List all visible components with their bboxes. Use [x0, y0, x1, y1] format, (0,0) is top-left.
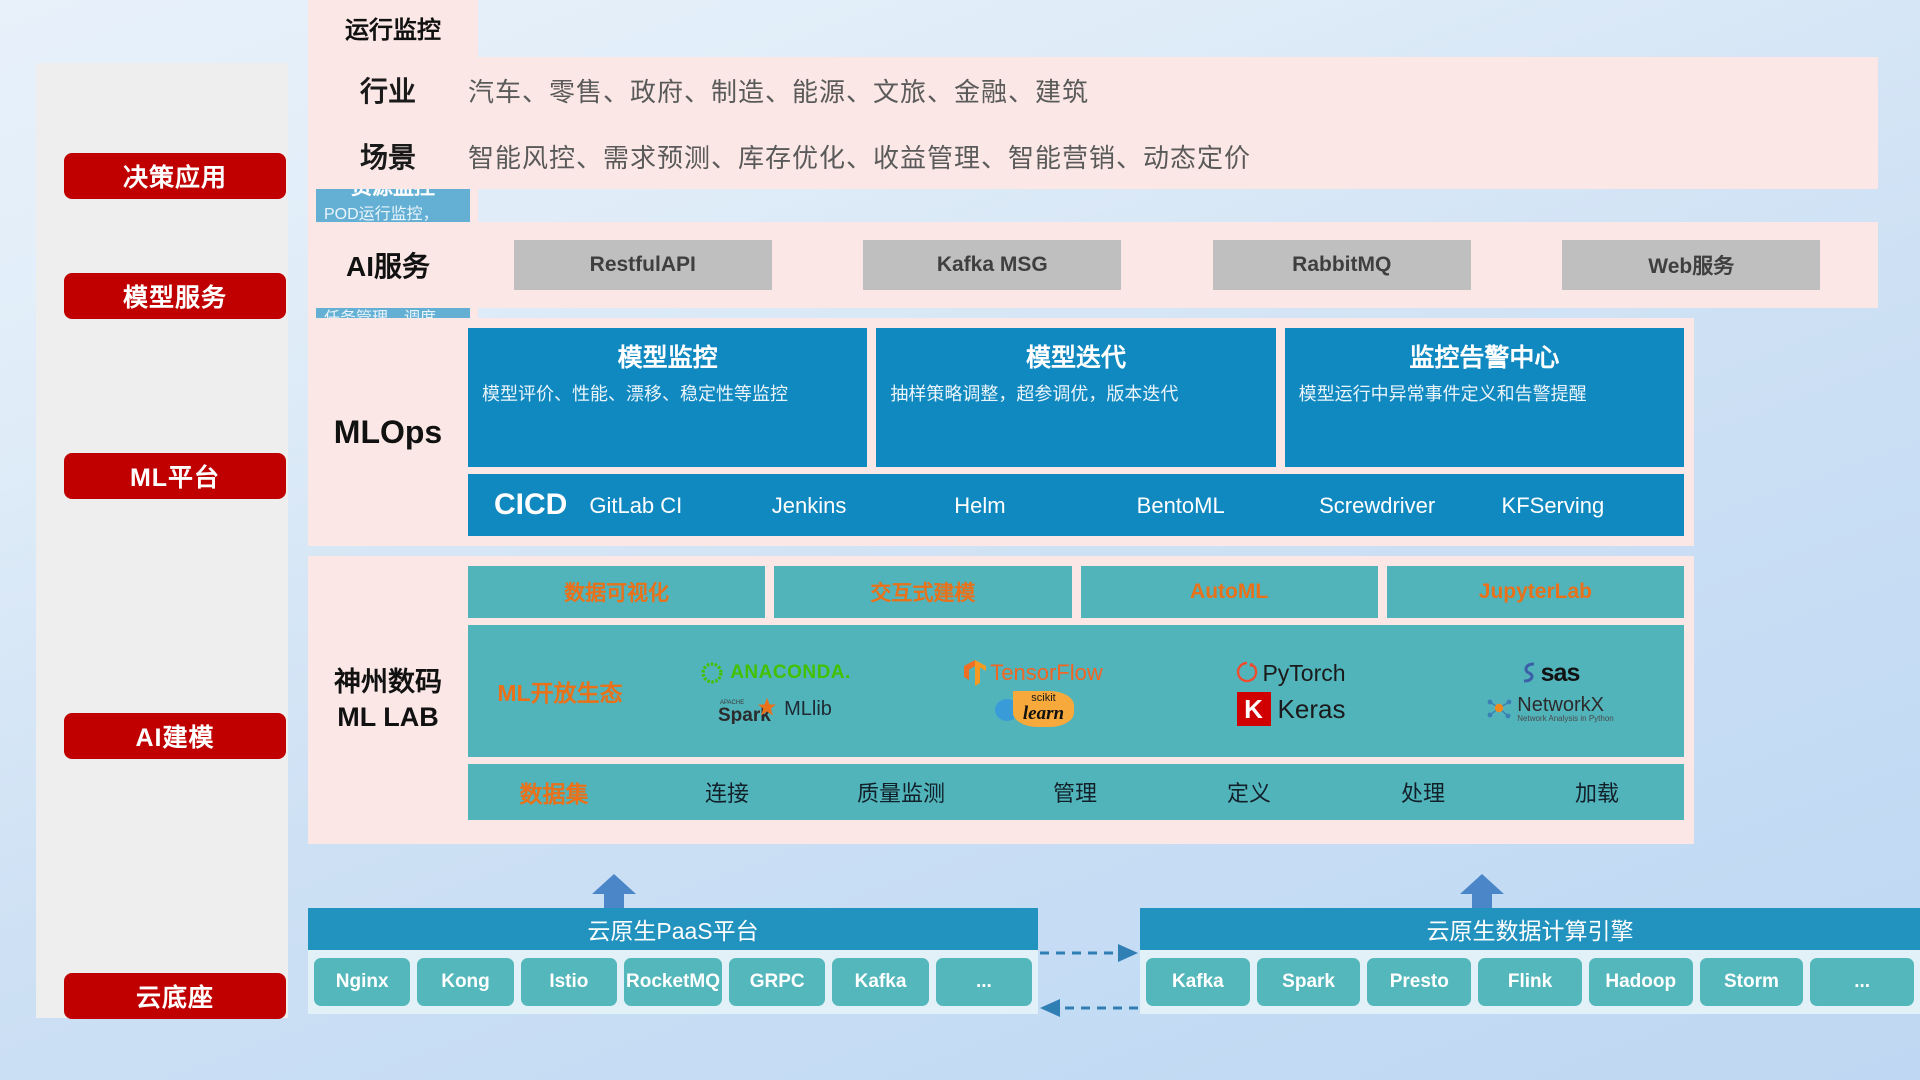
rail-item-ai-modeling[interactable]: AI建模: [64, 713, 286, 759]
tool-chip-automl[interactable]: AutoML: [1081, 566, 1378, 618]
networkx-wordmark: NetworkX: [1517, 695, 1614, 715]
paas-chip-grpc[interactable]: GRPC: [729, 958, 825, 1006]
dataset-item-define[interactable]: 定义: [1162, 776, 1336, 808]
bidirectional-link-arrows: [1038, 908, 1140, 1038]
networkx-mark-icon: [1484, 694, 1514, 724]
ml-lab-band: 神州数码 ML LAB 数据可视化 交互式建模 AutoML JupyterLa…: [308, 556, 1694, 844]
ml-lab-label: 神州数码 ML LAB: [308, 556, 468, 844]
mlops-content: 模型监控 模型评价、性能、漂移、稳定性等监控 模型迭代 抽样策略调整，超参调优，…: [468, 318, 1694, 546]
ai-service-label: AI服务: [308, 245, 468, 285]
service-chip-kafka-msg[interactable]: Kafka MSG: [863, 240, 1121, 290]
cloud-paas-title: 云原生PaaS平台: [308, 908, 1038, 950]
scikit-learn-logo: scikit learn: [992, 691, 1074, 727]
paas-chip-istio[interactable]: Istio: [521, 958, 617, 1006]
keras-wordmark: Keras: [1278, 694, 1346, 725]
ml-lab-label-line1: 神州数码: [334, 665, 442, 700]
ml-open-ecosystem-label: ML开放生态: [474, 674, 646, 708]
pytorch-logo: PyTorch: [1236, 660, 1345, 687]
cicd-item-jenkins[interactable]: Jenkins: [772, 493, 954, 518]
dataset-item-load[interactable]: 加载: [1510, 776, 1684, 808]
card-title: 模型迭代: [890, 338, 1261, 374]
cloud-paas-chip-list: Nginx Kong Istio RocketMQ GRPC Kafka ...: [308, 950, 1038, 1014]
industry-value: 汽车、零售、政府、制造、能源、文旅、金融、建筑: [468, 72, 1089, 109]
mlops-label: MLOps: [308, 318, 468, 546]
ml-tool-list: 数据可视化 交互式建模 AutoML JupyterLab: [468, 566, 1684, 618]
dataset-item-manage[interactable]: 管理: [988, 776, 1162, 808]
paas-chip-kafka[interactable]: Kafka: [832, 958, 928, 1006]
mllib-wordmark: MLlib: [784, 698, 832, 721]
service-chip-web[interactable]: Web服务: [1562, 240, 1820, 290]
scenario-label: 场景: [308, 136, 468, 176]
dataset-item-quality[interactable]: 质量监测: [814, 776, 988, 808]
decision-application-band: 行业 汽车、零售、政府、制造、能源、文旅、金融、建筑 场景 智能风控、需求预测、…: [308, 57, 1878, 189]
engine-chip-flink[interactable]: Flink: [1478, 958, 1582, 1006]
anaconda-logo: ANACONDA.: [699, 660, 851, 686]
mlops-card-model-monitoring[interactable]: 模型监控 模型评价、性能、漂移、稳定性等监控: [468, 328, 867, 467]
tool-chip-jupyterlab[interactable]: JupyterLab: [1387, 566, 1684, 618]
engine-chip-kafka[interactable]: Kafka: [1146, 958, 1250, 1006]
service-chip-rabbitmq[interactable]: RabbitMQ: [1213, 240, 1471, 290]
industry-label: 行业: [308, 70, 468, 110]
mlops-card-model-iteration[interactable]: 模型迭代 抽样策略调整，超参调优，版本迭代: [876, 328, 1275, 467]
apache-spark-mark-icon: APACHE Spark: [718, 694, 780, 724]
anaconda-wordmark: ANACONDA.: [730, 662, 851, 684]
card-title: 监控告警中心: [1299, 338, 1670, 374]
ai-service-band: AI服务 RestfulAPI Kafka MSG RabbitMQ Web服务: [308, 222, 1878, 308]
cicd-bar: CICD GitLab CI Jenkins Helm BentoML Scre…: [468, 474, 1684, 536]
cicd-item-bentoml[interactable]: BentoML: [1137, 493, 1319, 518]
dataset-item-list: 连接 质量监测 管理 定义 处理 加载: [640, 776, 1684, 808]
card-title: 模型监控: [482, 338, 853, 374]
card-desc: 模型运行中异常事件定义和告警提醒: [1299, 382, 1670, 406]
pytorch-mark-icon: [1236, 660, 1258, 686]
spark-mllib-logo: APACHE Spark MLlib: [718, 694, 832, 724]
ml-open-ecosystem-row: ML开放生态 ANACONDA.: [468, 625, 1684, 757]
mlops-card-list: 模型监控 模型评价、性能、漂移、稳定性等监控 模型迭代 抽样策略调整，超参调优，…: [468, 328, 1684, 467]
mlops-card-alert-center[interactable]: 监控告警中心 模型运行中异常事件定义和告警提醒: [1285, 328, 1684, 467]
paas-chip-kong[interactable]: Kong: [417, 958, 513, 1006]
dataset-title: 数据集: [468, 775, 640, 809]
service-chip-restfulapi[interactable]: RestfulAPI: [514, 240, 772, 290]
scenario-value: 智能风控、需求预测、库存优化、收益管理、智能营销、动态定价: [468, 138, 1251, 175]
learn-wordmark: learn: [1023, 704, 1064, 723]
cicd-item-list: GitLab CI Jenkins Helm BentoML Screwdriv…: [589, 493, 1684, 518]
rail-item-decision-app[interactable]: 决策应用: [64, 153, 286, 199]
paas-chip-more[interactable]: ...: [936, 958, 1032, 1006]
tensorflow-mark-icon: [963, 659, 987, 687]
tool-chip-data-visualization[interactable]: 数据可视化: [468, 566, 765, 618]
ai-service-chip-list: RestfulAPI Kafka MSG RabbitMQ Web服务: [468, 240, 1878, 290]
mlops-band: MLOps 模型监控 模型评价、性能、漂移、稳定性等监控 模型迭代 抽样策略调整…: [308, 318, 1694, 546]
cicd-item-gitlab-ci[interactable]: GitLab CI: [589, 493, 771, 518]
cicd-item-helm[interactable]: Helm: [954, 493, 1136, 518]
cicd-title: CICD: [468, 488, 589, 522]
paas-chip-rocketmq[interactable]: RocketMQ: [624, 958, 722, 1006]
industry-row: 行业 汽车、零售、政府、制造、能源、文旅、金融、建筑: [308, 57, 1878, 123]
card-desc: 模型评价、性能、漂移、稳定性等监控: [482, 382, 853, 406]
cloud-engine-title: 云原生数据计算引擎: [1140, 908, 1920, 950]
rail-item-model-service[interactable]: 模型服务: [64, 273, 286, 319]
paas-chip-nginx[interactable]: Nginx: [314, 958, 410, 1006]
engine-chip-storm[interactable]: Storm: [1700, 958, 1804, 1006]
ml-lab-content: 数据可视化 交互式建模 AutoML JupyterLab ML开放生态 ANA…: [468, 556, 1694, 844]
sas-logo: sas: [1519, 659, 1580, 688]
keras-mark-icon: K: [1237, 692, 1271, 726]
cloud-base-section: 云原生PaaS平台 Nginx Kong Istio RocketMQ GRPC…: [308, 888, 1920, 1038]
engine-chip-hadoop[interactable]: Hadoop: [1589, 958, 1693, 1006]
anaconda-mark-icon: [699, 660, 725, 686]
sas-wordmark: sas: [1541, 659, 1580, 688]
tensorflow-wordmark: TensorFlow: [990, 660, 1102, 686]
networkx-logo: NetworkX Network Analysis in Python: [1484, 694, 1614, 724]
networkx-tagline: Network Analysis in Python: [1517, 715, 1614, 723]
cicd-item-screwdriver[interactable]: Screwdriver: [1319, 493, 1501, 518]
pytorch-wordmark: PyTorch: [1262, 660, 1345, 687]
rail-item-ml-platform[interactable]: ML平台: [64, 453, 286, 499]
ecosystem-logo-grid: ANACONDA. TensorFlow: [646, 655, 1678, 727]
scenario-row: 场景 智能风控、需求预测、库存优化、收益管理、智能营销、动态定价: [308, 123, 1878, 189]
sas-mark-icon: [1519, 660, 1539, 686]
tool-chip-interactive-modeling[interactable]: 交互式建模: [774, 566, 1071, 618]
ml-lab-label-line2: ML LAB: [337, 700, 439, 735]
dataset-item-connect[interactable]: 连接: [640, 776, 814, 808]
engine-chip-spark[interactable]: Spark: [1257, 958, 1361, 1006]
keras-logo: K Keras: [1237, 692, 1346, 726]
dataset-item-process[interactable]: 处理: [1336, 776, 1510, 808]
cloud-engine-chip-list: Kafka Spark Presto Flink Hadoop Storm ..…: [1140, 950, 1920, 1014]
cloud-paas-block: 云原生PaaS平台 Nginx Kong Istio RocketMQ GRPC…: [308, 908, 1038, 1014]
card-desc: 抽样策略调整，超参调优，版本迭代: [890, 382, 1261, 406]
cicd-item-kfserving[interactable]: KFServing: [1502, 493, 1684, 518]
runtime-monitoring-title: 运行监控: [316, 10, 470, 45]
engine-chip-more[interactable]: ...: [1810, 958, 1914, 1006]
tensorflow-logo: TensorFlow: [963, 659, 1102, 687]
dataset-row: 数据集 连接 质量监测 管理 定义 处理 加载: [468, 764, 1684, 820]
engine-chip-presto[interactable]: Presto: [1367, 958, 1471, 1006]
cloud-compute-engine-block: 云原生数据计算引擎 Kafka Spark Presto Flink Hadoo…: [1140, 908, 1920, 1014]
rail-item-cloud-base[interactable]: 云底座: [64, 973, 286, 1019]
left-stage-rail: 决策应用 模型服务 ML平台 AI建模 云底座: [36, 63, 288, 1018]
